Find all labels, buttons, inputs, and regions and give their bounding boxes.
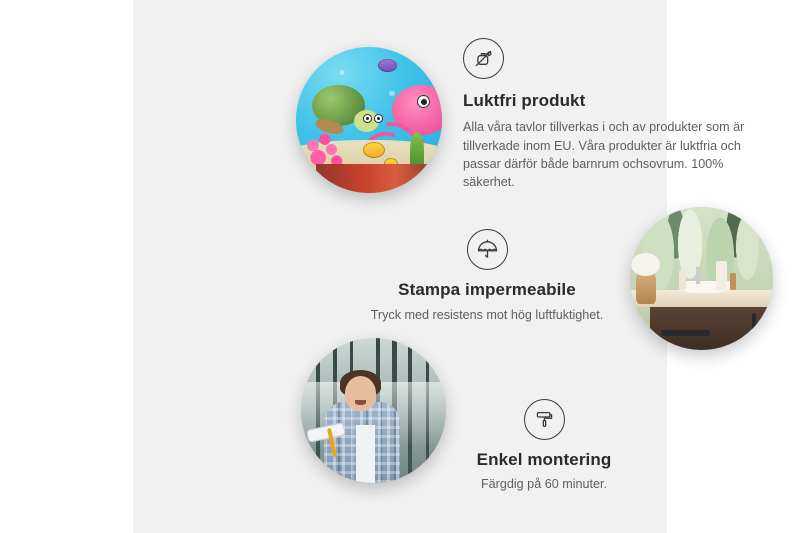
- content-panel: Luktfri produkt Alla våra tavlor tillver…: [133, 0, 667, 533]
- photo-bathroom-botanical-wallpaper[interactable]: [630, 207, 773, 350]
- feature-odourless: Luktfri produkt Alla våra tavlor tillver…: [463, 38, 755, 191]
- feature-mounting: Enkel montering Färgdig på 60 minuter.: [435, 399, 653, 494]
- forest-illustration: [301, 338, 446, 483]
- screenshot-root: Luktfri produkt Alla våra tavlor tillver…: [0, 0, 800, 533]
- underwater-illustration: [296, 47, 442, 193]
- feature-description: Färgdig på 60 minuter.: [435, 475, 653, 493]
- feature-waterproof: Stampa impermeabile Tryck med resistens …: [347, 229, 627, 325]
- feature-title: Enkel montering: [435, 450, 653, 470]
- feature-description: Tryck med resistens mot hög luftfuktighe…: [347, 306, 627, 324]
- no-odour-perfume-bottle-icon: [463, 38, 504, 79]
- paint-roller-icon: [524, 399, 565, 440]
- feature-title: Luktfri produkt: [463, 91, 755, 111]
- feature-description: Alla våra tavlor tillverkas i och av pro…: [463, 118, 755, 191]
- umbrella-icon: [467, 229, 508, 270]
- feature-title: Stampa impermeabile: [347, 280, 627, 300]
- photo-underwater-cartoon-mural[interactable]: [296, 47, 442, 193]
- photo-woman-paint-roller-forest-mural[interactable]: [301, 338, 446, 483]
- bathroom-illustration: [630, 207, 773, 350]
